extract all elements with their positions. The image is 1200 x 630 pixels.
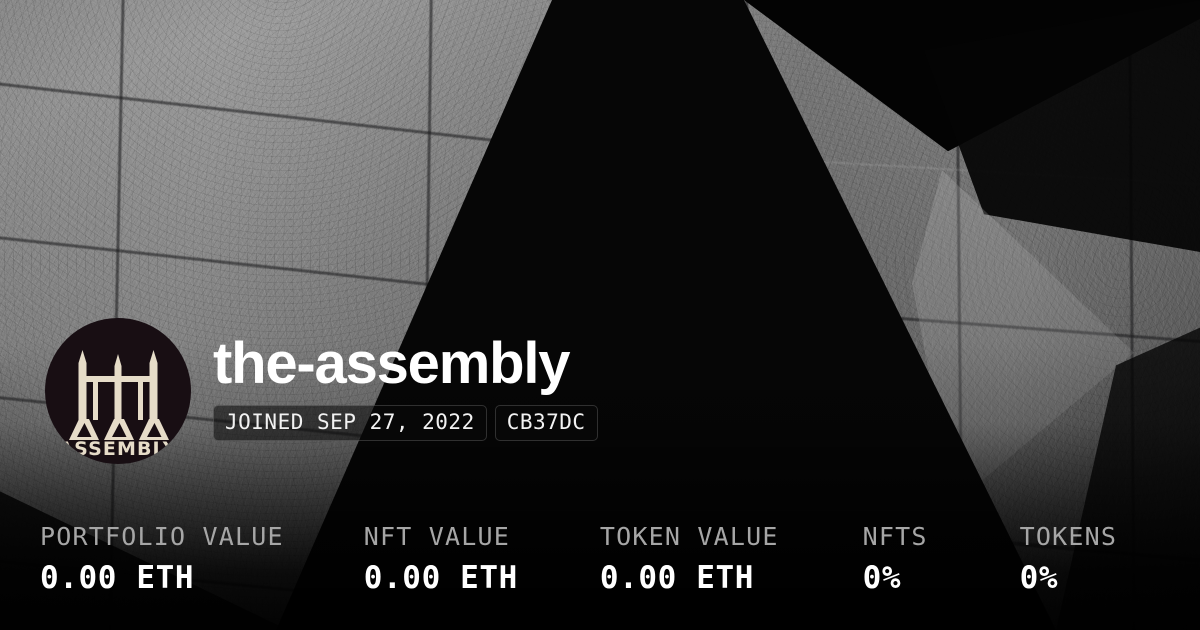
joined-date-badge[interactable]: JOINED SEP 27, 2022 (213, 405, 487, 441)
badge-list: JOINED SEP 27, 2022 CB37DC (213, 405, 598, 441)
stat-token-value: TOKEN VALUE 0.00 ETH (600, 524, 779, 594)
profile-header: ASSEMBLY the-assembly JOINED SEP 27, 202… (45, 318, 598, 464)
stats-row: PORTFOLIO VALUE 0.00 ETH NFT VALUE 0.00 … (40, 524, 1180, 594)
stat-value: 0% (1020, 563, 1118, 594)
stat-value: 0.00 ETH (364, 563, 518, 594)
stat-value: 0% (863, 563, 928, 594)
stat-value: 0.00 ETH (600, 563, 779, 594)
address-short-badge[interactable]: CB37DC (495, 405, 598, 441)
stat-label: TOKEN VALUE (600, 524, 779, 549)
stat-nft-value: NFT VALUE 0.00 ETH (364, 524, 518, 594)
banner-content: ASSEMBLY the-assembly JOINED SEP 27, 202… (0, 0, 1200, 630)
profile-banner-card: ASSEMBLY the-assembly JOINED SEP 27, 202… (0, 0, 1200, 630)
stat-value: 0.00 ETH (40, 563, 284, 594)
page-title: the-assembly (213, 334, 598, 393)
stat-tokens: TOKENS 0% (1020, 524, 1118, 594)
assembly-towers-logo-icon: ASSEMBLY (45, 318, 191, 464)
avatar-wordmark: ASSEMBLY (58, 438, 177, 460)
stat-label: PORTFOLIO VALUE (40, 524, 284, 549)
stat-label: TOKENS (1020, 524, 1118, 549)
stat-nfts: NFTS 0% (863, 524, 928, 594)
identity-block: the-assembly JOINED SEP 27, 2022 CB37DC (213, 318, 598, 441)
stat-label: NFTS (863, 524, 928, 549)
stat-portfolio-value: PORTFOLIO VALUE 0.00 ETH (40, 524, 284, 594)
avatar[interactable]: ASSEMBLY (45, 318, 191, 464)
stat-label: NFT VALUE (364, 524, 518, 549)
